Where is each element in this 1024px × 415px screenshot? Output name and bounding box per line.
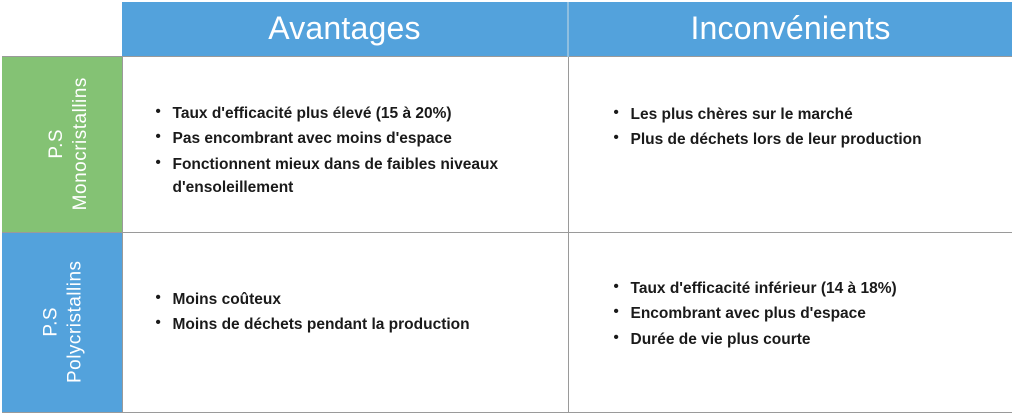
- cell-polycristallins-avantages: Moins coûteux Moins de déchets pendant l…: [122, 232, 568, 412]
- cell-polycristallins-inconvenients: Taux d'efficacité inférieur (14 à 18%) E…: [568, 232, 1012, 412]
- list-item: Moins coûteux: [156, 288, 554, 312]
- bullet-list-monocristallins-inconvenients: Les plus chères sur le marché Plus de dé…: [569, 57, 1013, 152]
- list-item: Fonctionnent mieux dans de faibles nivea…: [156, 153, 554, 200]
- list-item: Taux d'efficacité plus élevé (15 à 20%): [156, 102, 554, 126]
- row-label-monocristallins: P.S Monocristallins: [2, 56, 122, 232]
- cell-monocristallins-avantages: Taux d'efficacité plus élevé (15 à 20%) …: [122, 56, 568, 232]
- cell-monocristallins-inconvenients: Les plus chères sur le marché Plus de dé…: [568, 56, 1012, 232]
- table-body: P.S Monocristallins Taux d'efficacité pl…: [2, 56, 1012, 412]
- row-label-name: Monocristallins: [69, 77, 93, 210]
- list-item: Les plus chères sur le marché: [614, 103, 999, 127]
- list-item: Moins de déchets pendant la production: [156, 313, 554, 337]
- table-row-polycristallins: P.S Polycristallins Moins coûteux Moins …: [2, 232, 1012, 412]
- bullet-list-polycristallins-avantages: Moins coûteux Moins de déchets pendant l…: [123, 233, 568, 337]
- table-row-monocristallins: P.S Monocristallins Taux d'efficacité pl…: [2, 56, 1012, 232]
- bullet-list-monocristallins-avantages: Taux d'efficacité plus élevé (15 à 20%) …: [123, 57, 568, 200]
- row-label-polycristallins: P.S Polycristallins: [2, 232, 122, 412]
- bullet-list-polycristallins-inconvenients: Taux d'efficacité inférieur (14 à 18%) E…: [569, 233, 1013, 352]
- column-header-inconvenients: Inconvénients: [568, 2, 1012, 56]
- row-label-text: P.S Polycristallins: [40, 261, 88, 384]
- comparison-table: Avantages Inconvénients P.S Monocristall…: [2, 2, 1012, 413]
- table-header: Avantages Inconvénients: [2, 2, 1012, 56]
- header-corner-cell: [2, 2, 122, 56]
- list-item: Pas encombrant avec moins d'espace: [156, 127, 554, 151]
- column-header-avantages: Avantages: [122, 2, 568, 56]
- list-item: Encombrant avec plus d'espace: [614, 302, 999, 326]
- list-item: Durée de vie plus courte: [614, 328, 999, 352]
- list-item: Plus de déchets lors de leur production: [614, 128, 999, 152]
- row-label-prefix: P.S: [45, 77, 69, 210]
- row-label-prefix: P.S: [40, 261, 64, 384]
- list-item: Taux d'efficacité inférieur (14 à 18%): [614, 277, 999, 301]
- row-label-text: P.S Monocristallins: [45, 77, 93, 210]
- header-row: Avantages Inconvénients: [2, 2, 1012, 56]
- row-label-name: Polycristallins: [63, 261, 87, 384]
